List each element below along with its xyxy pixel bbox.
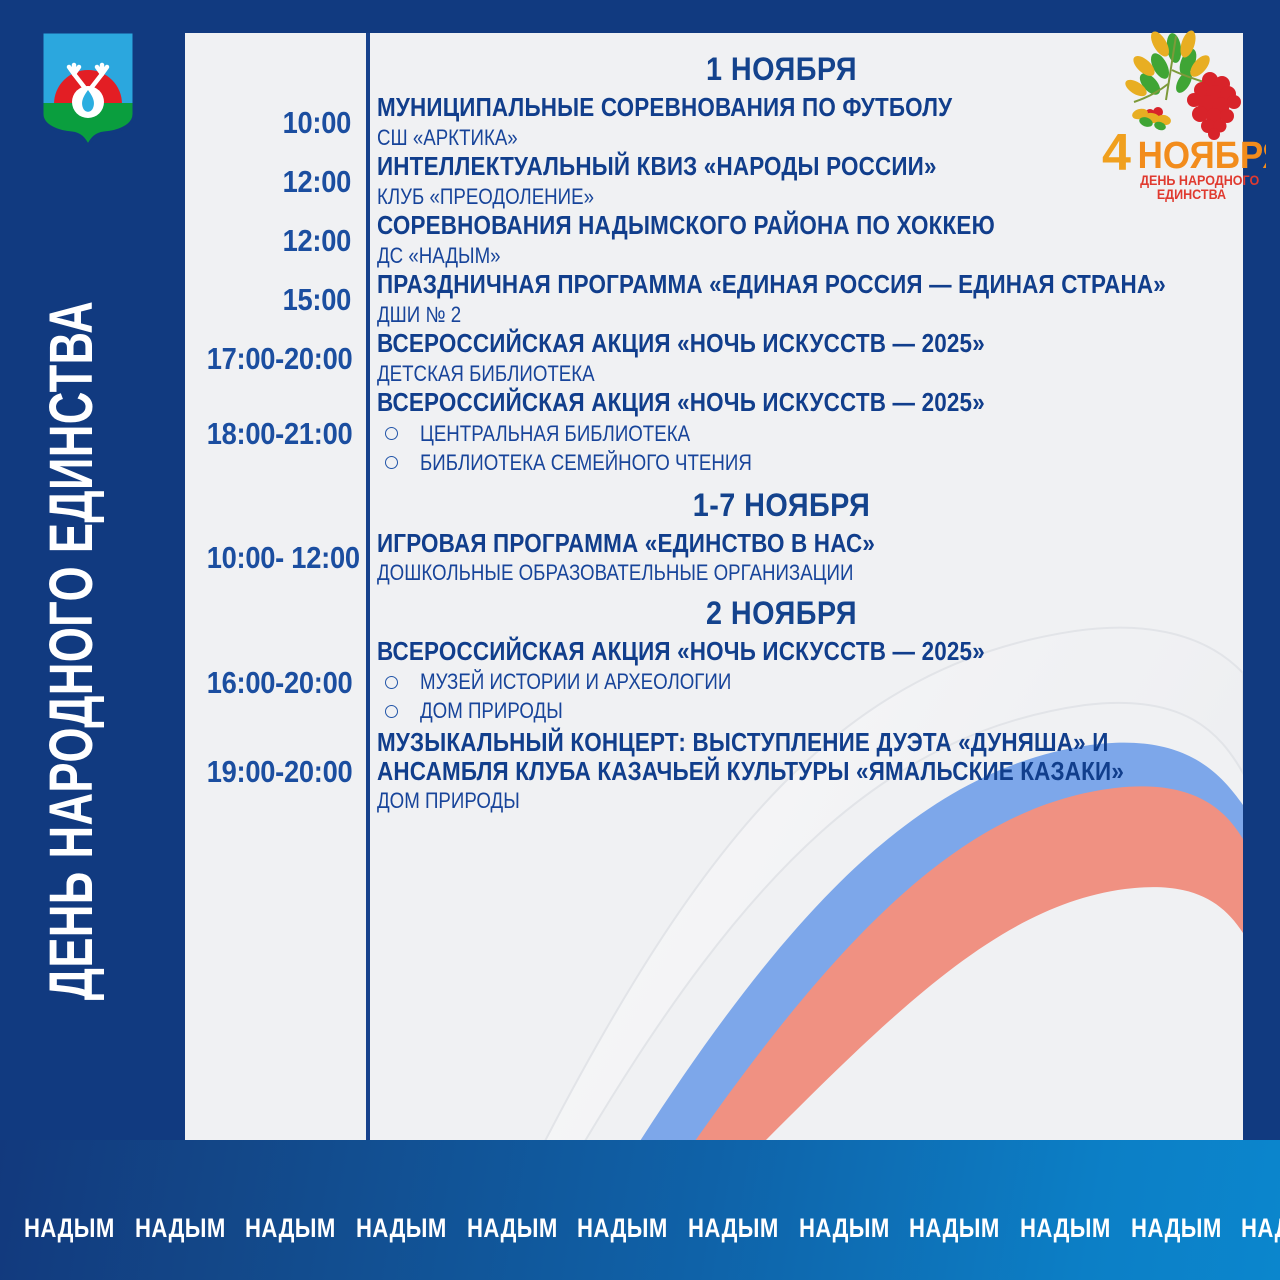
footer-city-word: НАДЫМ	[356, 1213, 447, 1244]
event-title: МУЗЫКАЛЬНЫЙ КОНЦЕРТ: ВЫСТУПЛЕНИЕ ДУЭТА «…	[377, 729, 1130, 786]
venue-list-item: ДОМ ПРИРОДЫ	[377, 698, 1233, 724]
circle-bullet-icon	[385, 676, 398, 689]
event-title: ПРАЗДНИЧНАЯ ПРОГРАММА «ЕДИНАЯ РОССИЯ — Е…	[377, 271, 1166, 300]
poster-root: 1 НОЯБРЯ10:00МУНИЦИПАЛЬНЫЕ СОРЕВНОВАНИЯ …	[0, 0, 1280, 1280]
event-title: ВСЕРОССИЙСКАЯ АКЦИЯ «НОЧЬ ИСКУССТВ — 202…	[377, 330, 1130, 359]
event-row: 16:00-20:00ВСЕРОССИЙСКАЯ АКЦИЯ «НОЧЬ ИСК…	[185, 638, 1243, 728]
event-venue: КЛУБ «ПРЕОДОЛЕНИЕ»	[377, 183, 1105, 211]
event-row: 19:00-20:00МУЗЫКАЛЬНЫЙ КОНЦЕРТ: ВЫСТУПЛЕ…	[185, 729, 1243, 815]
event-body: ИГРОВАЯ ПРОГРАММА «ЕДИНСТВО В НАС»ДОШКОЛ…	[366, 530, 1243, 587]
footer-marquee: НАДЫМНАДЫМНАДЫМНАДЫМНАДЫМНАДЫМНАДЫМНАДЫМ…	[0, 1213, 1280, 1244]
venue-name: БИБЛИОТЕКА СЕМЕЙНОГО ЧТЕНИЯ	[420, 450, 752, 476]
day-heading: 2 НОЯБРЯ	[238, 595, 1190, 632]
event-row: 12:00ИНТЕЛЛЕКТУАЛЬНЫЙ КВИЗ «НАРОДЫ РОССИ…	[185, 153, 1243, 210]
event-row: 10:00- 12:00ИГРОВАЯ ПРОГРАММА «ЕДИНСТВО …	[185, 530, 1243, 587]
event-time: 10:00	[207, 105, 366, 141]
logo-month-text: НОЯБРЯ	[1138, 134, 1266, 177]
venue-list-item: ЦЕНТРАЛЬНАЯ БИБЛИОТЕКА	[377, 421, 1233, 447]
venue-list: МУЗЕЙ ИСТОРИИ И АРХЕОЛОГИИДОМ ПРИРОДЫ	[377, 669, 1233, 724]
footer-city-word: НАДЫМ	[24, 1213, 115, 1244]
event-title: ИГРОВАЯ ПРОГРАММА «ЕДИНСТВО В НАС»	[377, 530, 1130, 559]
circle-bullet-icon	[385, 456, 398, 469]
event-row: 15:00ПРАЗДНИЧНАЯ ПРОГРАММА «ЕДИНАЯ РОССИ…	[185, 271, 1243, 328]
event-row: 12:00СОРЕВНОВАНИЯ НАДЫМСКОГО РАЙОНА ПО Х…	[185, 212, 1243, 269]
event-time: 15:00	[207, 282, 366, 318]
footer-city-word: НАДЫМ	[1020, 1213, 1111, 1244]
event-time: 12:00	[207, 164, 366, 200]
footer-city-word: НАДЫМ	[577, 1213, 668, 1244]
footer-city-word: НАДЫМ	[135, 1213, 226, 1244]
event-body: СОРЕВНОВАНИЯ НАДЫМСКОГО РАЙОНА ПО ХОККЕЮ…	[366, 212, 1243, 269]
event-venue: ДШИ № 2	[377, 301, 1139, 329]
event-title: ИНТЕЛЛЕКТУАЛЬНЫЙ КВИЗ «НАРОДЫ РОССИИ»	[377, 153, 1130, 182]
footer-city-word: НАДЫМ	[688, 1213, 779, 1244]
event-title: МУНИЦИПАЛЬНЫЕ СОРЕВНОВАНИЯ ПО ФУТБОЛУ	[377, 94, 1130, 123]
venue-name: ДОМ ПРИРОДЫ	[420, 698, 563, 724]
event-venue: СШ «АРКТИКА»	[377, 124, 1105, 152]
event-body: ВСЕРОССИЙСКАЯ АКЦИЯ «НОЧЬ ИСКУССТВ — 202…	[366, 330, 1243, 387]
event-body: ПРАЗДНИЧНАЯ ПРОГРАММА «ЕДИНАЯ РОССИЯ — Е…	[366, 271, 1243, 328]
event-time: 12:00	[207, 223, 366, 259]
national-unity-day-logo: 4 НОЯБРЯ ДЕНЬ НАРОДНОГО ЕДИНСТВА	[1088, 22, 1266, 202]
event-time: 19:00-20:00	[207, 754, 366, 790]
day-heading: 1 НОЯБРЯ	[238, 51, 1190, 88]
circle-bullet-icon	[385, 427, 398, 440]
event-title: ВСЕРОССИЙСКАЯ АКЦИЯ «НОЧЬ ИСКУССТВ — 202…	[377, 638, 1130, 667]
footer-band	[0, 1140, 1280, 1280]
footer-city-word: НАДЫМ	[1131, 1213, 1222, 1244]
venue-name: ЦЕНТРАЛЬНАЯ БИБЛИОТЕКА	[420, 421, 690, 447]
vertical-title-text: ДЕНЬ НАРОДНОГО ЕДИНСТВА	[42, 300, 103, 999]
footer-city-word: НАДЫМ	[467, 1213, 558, 1244]
event-title: ВСЕРОССИЙСКАЯ АКЦИЯ «НОЧЬ ИСКУССТВ — 202…	[377, 389, 1130, 418]
event-row: 18:00-21:00ВСЕРОССИЙСКАЯ АКЦИЯ «НОЧЬ ИСК…	[185, 389, 1243, 479]
event-row: 17:00-20:00ВСЕРОССИЙСКАЯ АКЦИЯ «НОЧЬ ИСК…	[185, 330, 1243, 387]
event-venue: ДОШКОЛЬНЫЕ ОБРАЗОВАТЕЛЬНЫЕ ОРГАНИЗАЦИИ	[377, 559, 1105, 587]
circle-bullet-icon	[385, 705, 398, 718]
event-venue: ДЕТСКАЯ БИБЛИОТЕКА	[377, 360, 1105, 388]
event-title: СОРЕВНОВАНИЯ НАДЫМСКОГО РАЙОНА ПО ХОККЕЮ	[377, 212, 1130, 241]
venue-list-item: МУЗЕЙ ИСТОРИИ И АРХЕОЛОГИИ	[377, 669, 1233, 695]
event-venue: ДОМ ПРИРОДЫ	[377, 787, 1105, 815]
footer-city-word: НАДЫМ	[799, 1213, 890, 1244]
event-body: ВСЕРОССИЙСКАЯ АКЦИЯ «НОЧЬ ИСКУССТВ — 202…	[366, 638, 1243, 728]
event-venue: ДС «НАДЫМ»	[377, 242, 1105, 270]
nadym-coat-of-arms-icon	[38, 30, 138, 150]
event-time: 10:00- 12:00	[207, 540, 366, 576]
footer-city-word: НАДЫМ	[909, 1213, 1000, 1244]
event-time: 18:00-21:00	[207, 416, 366, 452]
logo-subtitle-line2: ЕДИНСТВА	[1157, 187, 1227, 202]
venue-name: МУЗЕЙ ИСТОРИИ И АРХЕОЛОГИИ	[420, 669, 731, 695]
poster-vertical-title: ДЕНЬ НАРОДНОГО ЕДИНСТВА	[0, 150, 152, 1150]
schedule-body: 1 НОЯБРЯ10:00МУНИЦИПАЛЬНЫЕ СОРЕВНОВАНИЯ …	[185, 33, 1243, 815]
footer-city-word: НАДЫМ	[1241, 1213, 1280, 1244]
event-body: МУЗЫКАЛЬНЫЙ КОНЦЕРТ: ВЫСТУПЛЕНИЕ ДУЭТА «…	[366, 729, 1243, 815]
footer-city-word: НАДЫМ	[245, 1213, 336, 1244]
event-body: ВСЕРОССИЙСКАЯ АКЦИЯ «НОЧЬ ИСКУССТВ — 202…	[366, 389, 1243, 479]
logo-day-number: 4	[1102, 124, 1131, 182]
schedule-card: 1 НОЯБРЯ10:00МУНИЦИПАЛЬНЫЕ СОРЕВНОВАНИЯ …	[185, 33, 1243, 1141]
venue-list: ЦЕНТРАЛЬНАЯ БИБЛИОТЕКАБИБЛИОТЕКА СЕМЕЙНО…	[377, 421, 1233, 476]
event-time: 17:00-20:00	[207, 341, 366, 377]
event-row: 10:00МУНИЦИПАЛЬНЫЕ СОРЕВНОВАНИЯ ПО ФУТБО…	[185, 94, 1243, 151]
day-heading: 1-7 НОЯБРЯ	[238, 487, 1190, 524]
event-time: 16:00-20:00	[207, 665, 366, 701]
venue-list-item: БИБЛИОТЕКА СЕМЕЙНОГО ЧТЕНИЯ	[377, 450, 1233, 476]
